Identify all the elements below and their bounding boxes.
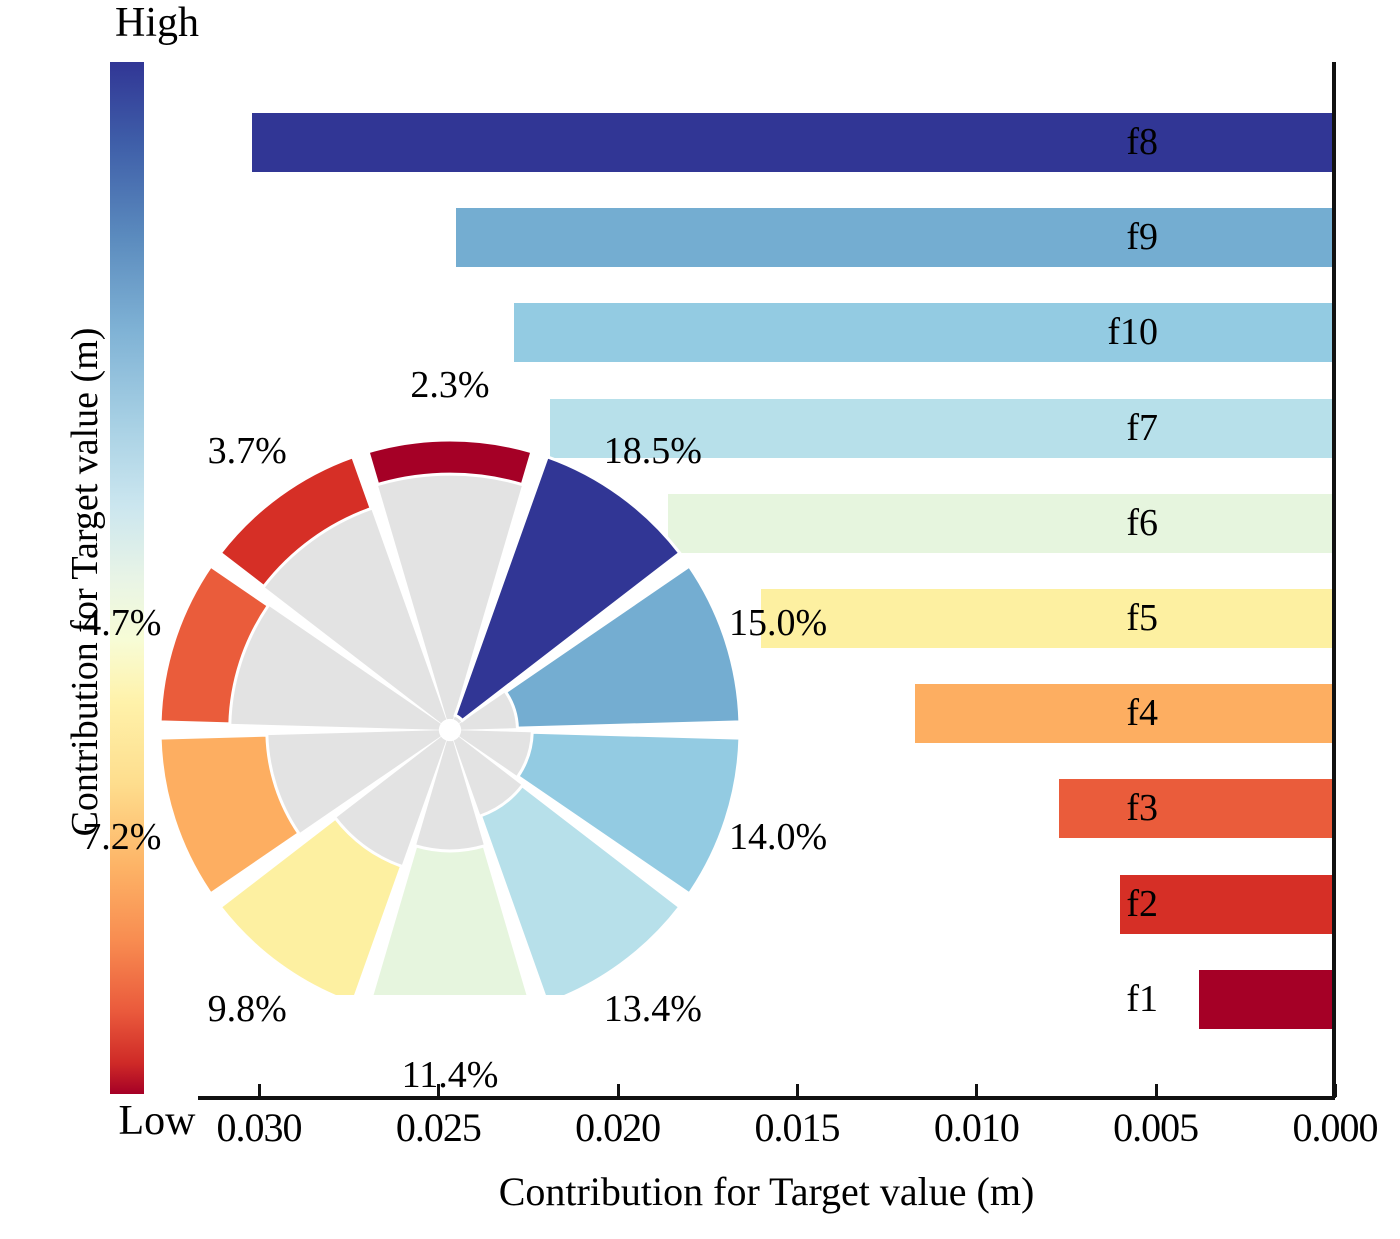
x-tick-label: 0.005 bbox=[1056, 1104, 1256, 1151]
rose-percent-label-9: 2.3% bbox=[410, 363, 489, 407]
rose-percent-label-7: 4.7% bbox=[82, 601, 161, 645]
x-tick-mark bbox=[617, 1084, 620, 1097]
rose-percent-label-5: 9.8% bbox=[208, 987, 287, 1031]
bar-f8[interactable] bbox=[252, 113, 1335, 172]
rose-percent-label-8: 3.7% bbox=[208, 429, 287, 473]
rose-percent-label-0: 18.5% bbox=[604, 429, 702, 473]
right-spine bbox=[1332, 62, 1336, 1098]
bar-label-f4: f4 bbox=[1008, 684, 1158, 743]
bar-label-f3: f3 bbox=[1008, 779, 1158, 838]
rose-percent-label-1: 15.0% bbox=[729, 601, 827, 645]
x-tick-label: 0.020 bbox=[518, 1104, 718, 1151]
x-tick-mark bbox=[975, 1084, 978, 1097]
rose-percent-label-3: 13.4% bbox=[604, 987, 702, 1031]
x-tick-label: 0.000 bbox=[1235, 1104, 1400, 1151]
x-tick-label: 0.025 bbox=[338, 1104, 538, 1151]
x-axis-title: Contribution for Target value (m) bbox=[198, 1168, 1335, 1215]
colorbar-axis-title: Contribution for Target value (m) bbox=[63, 282, 107, 882]
bar-label-f1: f1 bbox=[1008, 970, 1158, 1029]
rose-percent-label-2: 14.0% bbox=[729, 815, 827, 859]
bar-label-f8: f8 bbox=[1008, 113, 1158, 172]
bar-label-f6: f6 bbox=[1008, 494, 1158, 553]
bar-f9[interactable] bbox=[456, 208, 1335, 267]
bar-label-f9: f9 bbox=[1008, 208, 1158, 267]
bar-label-f2: f2 bbox=[1008, 875, 1158, 934]
bar-label-f5: f5 bbox=[1008, 589, 1158, 648]
colorbar-high-label: High bbox=[72, 2, 242, 44]
bar-label-f7: f7 bbox=[1008, 399, 1158, 458]
x-axis-line bbox=[198, 1096, 1335, 1100]
x-tick-mark bbox=[796, 1084, 799, 1097]
bar-label-f10: f10 bbox=[1008, 303, 1158, 362]
bar-f1[interactable] bbox=[1199, 970, 1335, 1029]
figure-canvas: High Low Contribution for Target value (… bbox=[0, 0, 1400, 1239]
x-tick-label: 0.015 bbox=[697, 1104, 897, 1151]
x-tick-mark bbox=[1334, 1084, 1337, 1097]
rose-center-hole bbox=[446, 726, 454, 734]
x-tick-mark bbox=[258, 1084, 261, 1097]
x-tick-label: 0.010 bbox=[876, 1104, 1076, 1151]
x-tick-mark bbox=[437, 1084, 440, 1097]
x-tick-mark bbox=[1155, 1084, 1158, 1097]
rose-percent-label-4: 11.4% bbox=[402, 1053, 499, 1097]
rose-percent-label-6: 7.2% bbox=[82, 815, 161, 859]
bar-f10[interactable] bbox=[514, 303, 1335, 362]
x-tick-label: 0.030 bbox=[159, 1104, 359, 1151]
bar-f6[interactable] bbox=[668, 494, 1335, 553]
